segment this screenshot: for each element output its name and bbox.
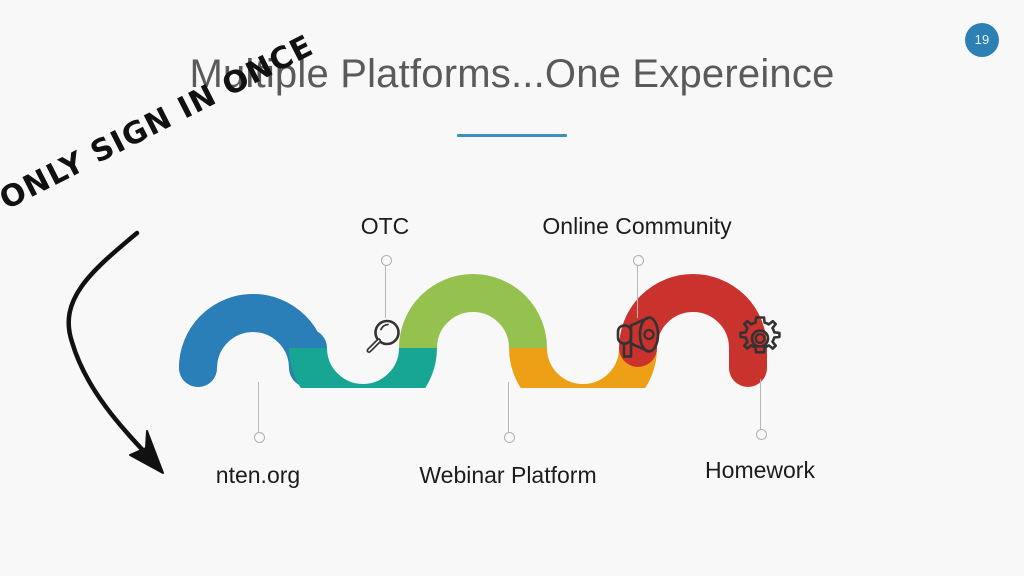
node-label-nten-org: nten.org xyxy=(216,462,300,489)
node-label-webinar-platform: Webinar Platform xyxy=(419,462,596,489)
node-label-otc: OTC xyxy=(361,213,410,240)
search-icon xyxy=(360,315,406,366)
pin-line xyxy=(508,382,509,434)
page-title: Multiple Platforms...One Expereince xyxy=(0,52,1024,97)
pin-line xyxy=(760,379,761,431)
node-label-homework: Homework xyxy=(705,457,815,484)
pin-line xyxy=(258,382,259,434)
title-divider xyxy=(457,134,567,137)
pin-line xyxy=(385,263,386,318)
megaphone-icon xyxy=(611,313,665,368)
pin-dot xyxy=(254,432,265,443)
pin-dot xyxy=(504,432,515,443)
gear-icon xyxy=(735,314,785,369)
node-label-online-community: Online Community xyxy=(542,213,731,240)
pin-line xyxy=(637,263,638,318)
pin-dot xyxy=(381,255,392,266)
slide-canvas: 19 Multiple Platforms...One Expereince O… xyxy=(0,0,1024,576)
wave-segment-green xyxy=(418,293,528,348)
pin-dot xyxy=(756,429,767,440)
pin-dot xyxy=(633,255,644,266)
